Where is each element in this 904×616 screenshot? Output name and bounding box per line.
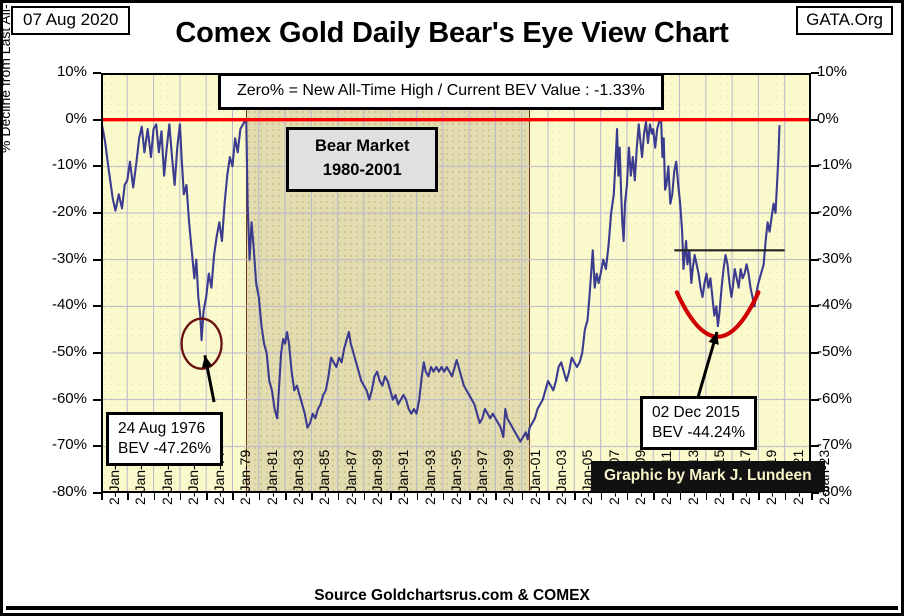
y-axis-tick-label-right: -20% [817, 203, 887, 220]
y-axis-tick [93, 119, 101, 121]
y-axis-tick [811, 165, 819, 167]
x-axis-tick [154, 493, 156, 500]
y-axis-tick-label-right: -40% [817, 296, 887, 313]
y-axis-tick-label-right: 10% [817, 63, 887, 80]
annotation-1976-low: 24 Aug 1976 BEV -47.26% [106, 412, 223, 466]
y-axis-tick [811, 212, 819, 214]
y-axis-tick [811, 305, 819, 307]
x-axis-tick-label: 2-Jan-85 [316, 450, 332, 505]
x-axis-tick-label: 2-Jan-95 [448, 450, 464, 505]
y-axis-tick [93, 399, 101, 401]
y-axis-tick [93, 492, 101, 494]
x-axis-tick [364, 493, 366, 500]
x-axis-tick [259, 493, 261, 500]
annotation-2015-value: BEV -44.24% [652, 423, 745, 443]
chart-frame: 07 Aug 2020 GATA.Org Comex Gold Daily Be… [0, 0, 904, 616]
y-axis-tick-label-left: -70% [17, 436, 87, 453]
x-axis-tick [127, 493, 129, 500]
x-axis-tick [311, 493, 313, 500]
bear-market-label-box: Bear Market 1980-2001 [286, 127, 438, 192]
footer-rule [6, 606, 898, 610]
x-axis-tick-label: 2-Jan-91 [395, 450, 411, 505]
annotation-2015-low: 02 Dec 2015 BEV -44.24% [640, 396, 757, 450]
y-axis-tick [93, 212, 101, 214]
y-axis-tick [811, 445, 819, 447]
y-axis-tick-label-left: 10% [17, 63, 87, 80]
x-axis-tick [522, 493, 524, 500]
x-axis-tick-label: 2-Jan-97 [474, 450, 490, 505]
y-axis-tick [811, 399, 819, 401]
annotation-1976-date: 24 Aug 1976 [118, 419, 211, 439]
y-axis-tick [93, 165, 101, 167]
x-axis-tick [101, 493, 103, 500]
x-axis-tick [680, 493, 682, 500]
bear-market-label-line1: Bear Market [315, 135, 409, 159]
y-axis-tick-label-right: -30% [817, 250, 887, 267]
footer-source: Source Goldchartsrus.com & COMEX [3, 587, 901, 605]
y-axis-tick-label-left: -80% [17, 483, 87, 500]
y-axis-tick-label-left: -20% [17, 203, 87, 220]
y-axis-tick-label-left: -30% [17, 250, 87, 267]
y-axis-tick [93, 305, 101, 307]
x-axis-tick [232, 493, 234, 500]
x-axis-tick [548, 493, 550, 500]
page-title: Comex Gold Daily Bear's Eye View Chart [3, 17, 901, 50]
y-axis-tick-label-left: -40% [17, 296, 87, 313]
x-axis-tick-label: 2-Jan-83 [290, 450, 306, 505]
y-axis-tick-label-left: -50% [17, 343, 87, 360]
x-axis-tick-label: 2-Jan-79 [237, 450, 253, 505]
y-axis-tick-label-right: -60% [817, 390, 887, 407]
annotation-1976-value: BEV -47.26% [118, 439, 211, 459]
bev-subtitle-box: Zero% = New All-Time High / Current BEV … [218, 73, 664, 110]
y-axis-tick-label-left: 0% [17, 110, 87, 127]
y-axis-tick [811, 352, 819, 354]
x-axis-tick-label: 2-Jan-99 [500, 450, 516, 505]
x-axis-tick [443, 493, 445, 500]
x-axis-tick [785, 493, 787, 500]
annotation-2015-date: 02 Dec 2015 [652, 403, 745, 423]
x-axis-tick-label: 2-Jan-87 [343, 450, 359, 505]
x-axis-tick [285, 493, 287, 500]
y-axis-tick [811, 119, 819, 121]
x-axis-tick-label: 2-Jan-93 [422, 450, 438, 505]
y-axis-tick [93, 259, 101, 261]
x-axis-tick-label: 2-Jan-03 [553, 450, 569, 505]
x-axis-tick [732, 493, 734, 500]
x-axis-tick [417, 493, 419, 500]
x-axis-tick [206, 493, 208, 500]
y-axis-tick [93, 352, 101, 354]
y-axis-tick [93, 445, 101, 447]
x-axis-tick [390, 493, 392, 500]
y-axis-tick-label-left: -10% [17, 156, 87, 173]
y-axis-tick [811, 72, 819, 74]
y-axis-tick-label-right: -10% [817, 156, 887, 173]
y-axis-tick-label-right: 0% [817, 110, 887, 127]
source-org-badge: GATA.Org [796, 6, 893, 35]
x-axis-tick [338, 493, 340, 500]
y-axis-tick [811, 259, 819, 261]
x-axis-tick-label: 2-Jan-01 [527, 450, 543, 505]
x-axis-tick [495, 493, 497, 500]
bear-market-label-line2: 1980-2001 [315, 159, 409, 183]
x-axis-tick [627, 493, 629, 500]
x-axis-tick [574, 493, 576, 500]
x-axis-tick [469, 493, 471, 500]
x-axis-tick-label: 2-Jan-89 [369, 450, 385, 505]
x-axis-tick [601, 493, 603, 500]
date-badge: 07 Aug 2020 [11, 6, 130, 35]
x-axis-tick [180, 493, 182, 500]
x-axis-tick [811, 493, 813, 500]
x-axis-tick [706, 493, 708, 500]
y-axis-tick [93, 72, 101, 74]
x-axis-tick [758, 493, 760, 500]
y-axis-tick-label-right: -50% [817, 343, 887, 360]
x-axis-tick [653, 493, 655, 500]
x-axis-tick-label: 2-Jan-81 [264, 450, 280, 505]
y-axis-tick-label-left: -60% [17, 390, 87, 407]
graphic-credit-badge: Graphic by Mark J. Lundeen [591, 461, 825, 492]
